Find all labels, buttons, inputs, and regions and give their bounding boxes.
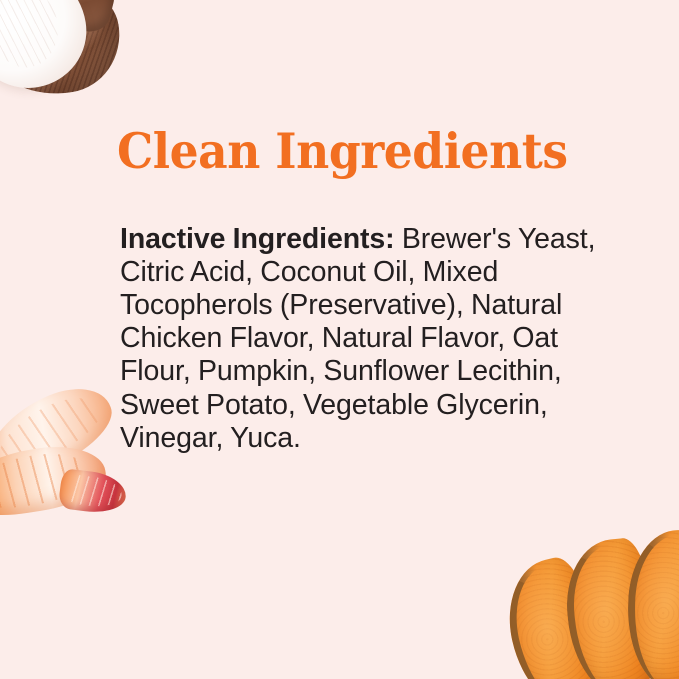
shrimp-body-back-shape xyxy=(0,372,120,495)
inactive-ingredients-paragraph: Inactive Ingredients: Brewer's Yeast, Ci… xyxy=(120,223,625,455)
inactive-ingredients-label: Inactive Ingredients: xyxy=(120,223,395,255)
clean-ingredients-poster: Clean Ingredients Inactive Ingredients: … xyxy=(0,0,679,679)
inactive-ingredients-list: Brewer's Yeast, Citric Acid, Coconut Oil… xyxy=(120,223,595,454)
shrimp-body-front-shape xyxy=(0,439,110,524)
coconut-husk-shape xyxy=(0,0,128,103)
coconut-photo xyxy=(0,0,126,102)
sweet-potato-wedge-shape xyxy=(627,529,679,679)
page-title: Clean Ingredients xyxy=(117,124,554,178)
sweet-potato-wedge-shape xyxy=(560,536,660,679)
sweet-potato-wedge-shape xyxy=(496,553,610,679)
sweet-potato-photo xyxy=(506,520,679,679)
coconut-husk-chunk-shape xyxy=(49,0,117,36)
shrimp-tail-shape xyxy=(58,468,128,516)
coconut-flesh-shape xyxy=(0,0,95,96)
